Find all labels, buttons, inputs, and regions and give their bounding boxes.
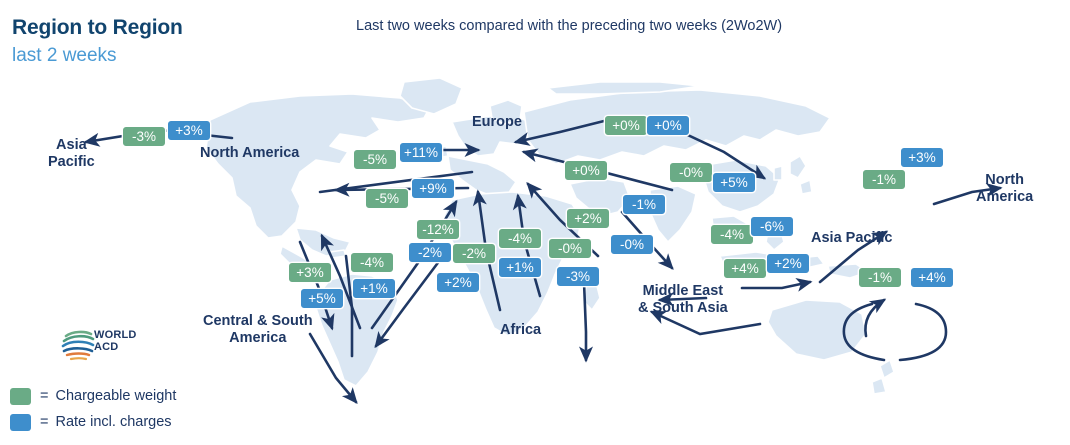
badge-rate-incl-charges-b4: +11% xyxy=(399,142,443,163)
region-label-north-america-right: North America xyxy=(976,172,1033,206)
region-label-central-south-america: Central & South America xyxy=(203,313,313,347)
region-to-region-infographic: Region to Region last 2 weeks Last two w… xyxy=(0,0,1070,445)
badge-rate-incl-charges-b6: +9% xyxy=(411,178,455,199)
legend-label-rate-incl-charges: Rate incl. charges xyxy=(55,414,171,430)
badge-chargeable-weight-b10: -0% xyxy=(669,162,713,183)
legend-label-chargeable-weight: Chargeable weight xyxy=(55,388,176,404)
legend-equals-1: = xyxy=(40,388,48,404)
arrow-mesa-to-apac xyxy=(742,282,810,288)
badge-chargeable-weight-b23: -4% xyxy=(710,224,754,245)
badge-chargeable-weight-b31: +3% xyxy=(288,262,332,283)
legend-row-chargeable-weight: = Chargeable weight xyxy=(10,383,176,409)
brand-line-2: ACD xyxy=(94,342,137,354)
badge-chargeable-weight-b29: -1% xyxy=(858,267,902,288)
region-label-africa: Africa xyxy=(500,322,541,339)
badge-chargeable-weight-b7: +0% xyxy=(604,115,648,136)
badge-chargeable-weight-b15: -2% xyxy=(452,243,496,264)
region-label-middle-east-south-asia: Middle East & South Asia xyxy=(638,283,728,317)
badge-chargeable-weight-b1: -3% xyxy=(122,126,166,147)
badge-chargeable-weight-b17: -4% xyxy=(498,228,542,249)
badge-chargeable-weight-b3: -5% xyxy=(353,149,397,170)
legend-row-rate-incl-charges: = Rate incl. charges xyxy=(10,409,176,435)
badge-rate-incl-charges-b30: +4% xyxy=(910,267,954,288)
badge-chargeable-weight-b20: -0% xyxy=(548,238,592,259)
badge-chargeable-weight-b27: -1% xyxy=(862,169,906,190)
badge-rate-incl-charges-b12: -1% xyxy=(622,194,666,215)
badge-chargeable-weight-b9: +0% xyxy=(564,160,608,181)
badge-rate-incl-charges-b26: +2% xyxy=(766,253,810,274)
legend-equals-2: = xyxy=(40,414,48,430)
badge-rate-incl-charges-b2: +3% xyxy=(167,120,211,141)
region-label-europe: Europe xyxy=(472,114,522,131)
badge-rate-incl-charges-b16: +2% xyxy=(436,272,480,293)
badge-rate-incl-charges-b18: +1% xyxy=(498,257,542,278)
badge-chargeable-weight-b13: -12% xyxy=(416,219,460,240)
arrow-apac-loop-a xyxy=(900,304,946,360)
badge-rate-incl-charges-b11: +5% xyxy=(712,172,756,193)
legend-swatch-green-icon xyxy=(10,388,31,405)
region-label-north-america-left: North America xyxy=(200,145,299,162)
badge-rate-incl-charges-b32: +5% xyxy=(300,288,344,309)
badge-chargeable-weight-b5: -5% xyxy=(365,188,409,209)
page-title: Region to Region xyxy=(12,16,183,40)
region-label-asia-pacific-left: Asia Pacific xyxy=(48,137,95,171)
badge-rate-incl-charges-b28: +3% xyxy=(900,147,944,168)
legend-swatch-blue-icon xyxy=(10,414,31,431)
badge-rate-incl-charges-b21: -3% xyxy=(556,266,600,287)
legend: = Chargeable weight = Rate incl. charges xyxy=(10,383,176,435)
worldacd-wordmark: WORLD ACD xyxy=(94,330,137,354)
badge-chargeable-weight-b19: +2% xyxy=(566,208,610,229)
badge-chargeable-weight-b25: +4% xyxy=(723,258,767,279)
region-label-asia-pacific-right: Asia Pacific xyxy=(811,230,892,247)
badge-chargeable-weight-b33: -4% xyxy=(350,252,394,273)
arrow-africa-internal xyxy=(584,282,586,360)
badge-rate-incl-charges-b22: -0% xyxy=(610,234,654,255)
badge-rate-incl-charges-b34: +1% xyxy=(352,278,396,299)
comparison-caption: Last two weeks compared with the precedi… xyxy=(356,18,782,34)
badge-rate-incl-charges-b8: +0% xyxy=(646,115,690,136)
badge-rate-incl-charges-b14: -2% xyxy=(408,242,452,263)
badge-rate-incl-charges-b24: -6% xyxy=(750,216,794,237)
